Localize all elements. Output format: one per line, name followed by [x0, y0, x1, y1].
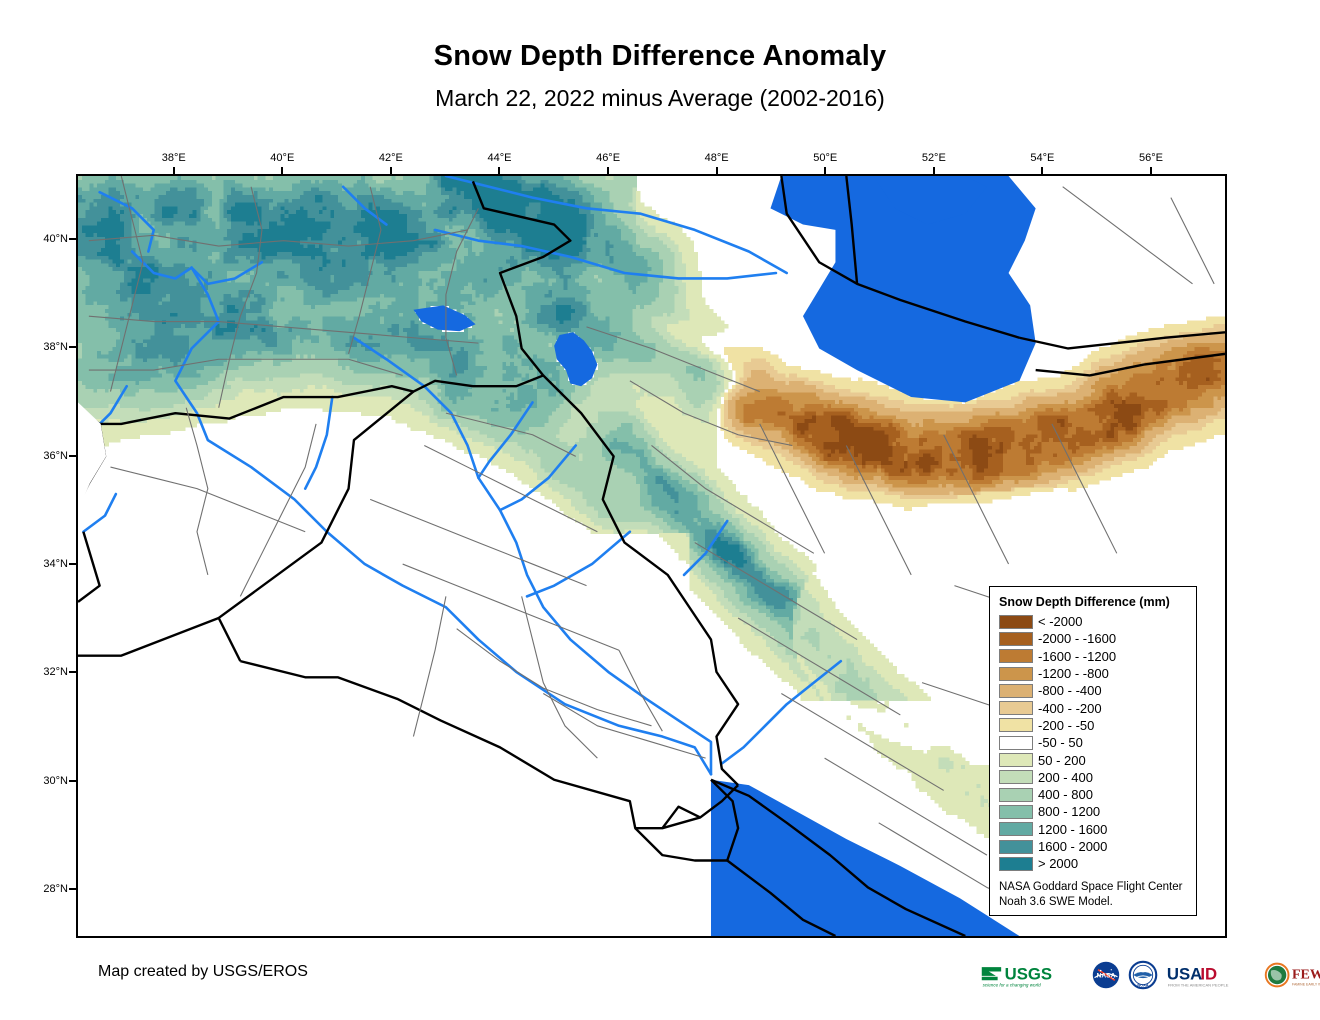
legend-title: Snow Depth Difference (mm) — [999, 595, 1187, 609]
longitude-label: 50°E — [813, 152, 837, 164]
longitude-tick — [281, 167, 283, 174]
longitude-tick — [173, 167, 175, 174]
svg-text:FROM THE AMERICAN PEOPLE: FROM THE AMERICAN PEOPLE — [1168, 982, 1229, 987]
longitude-tick — [390, 167, 392, 174]
legend-source-note: NASA Goddard Space Flight Center Noah 3.… — [999, 880, 1187, 909]
longitude-label: 52°E — [922, 152, 946, 164]
legend-entry: -800 - -400 — [999, 682, 1187, 699]
legend-entry-list: < -2000-2000 - -1600-1600 - -1200-1200 -… — [999, 613, 1187, 872]
title-block: Snow Depth Difference Anomaly March 22, … — [0, 40, 1320, 112]
legend-entry: -400 - -200 — [999, 699, 1187, 716]
longitude-tick — [716, 167, 718, 174]
longitude-tick — [1150, 167, 1152, 174]
legend-entry: -2000 - -1600 — [999, 630, 1187, 647]
latitude-label: 38°N — [24, 341, 68, 353]
longitude-label: 48°E — [705, 152, 729, 164]
legend-entry-label: -800 - -400 — [1038, 684, 1102, 697]
map-legend: Snow Depth Difference (mm) < -2000-2000 … — [989, 586, 1197, 916]
svg-text:science for a changing world: science for a changing world — [983, 982, 1041, 987]
legend-entry-label: -50 - 50 — [1038, 736, 1083, 749]
latitude-tick — [69, 346, 76, 348]
legend-entry: > 2000 — [999, 855, 1187, 872]
legend-color-swatch — [999, 701, 1033, 715]
legend-color-swatch — [999, 649, 1033, 663]
legend-color-swatch — [999, 684, 1033, 698]
latitude-label: 32°N — [24, 666, 68, 678]
svg-text:FEWS NET: FEWS NET — [1292, 968, 1320, 983]
legend-entry: 50 - 200 — [999, 751, 1187, 768]
legend-color-swatch — [999, 822, 1033, 836]
latitude-tick — [69, 455, 76, 457]
legend-entry: -1200 - -800 — [999, 665, 1187, 682]
legend-entry: 1200 - 1600 — [999, 821, 1187, 838]
longitude-tick — [607, 167, 609, 174]
legend-source-line-1: NASA Goddard Space Flight Center — [999, 880, 1187, 894]
legend-entry-label: < -2000 — [1038, 615, 1082, 628]
nasa-logo: NASA — [1091, 960, 1121, 990]
svg-text:USA: USA — [1167, 964, 1202, 983]
legend-color-swatch — [999, 840, 1033, 854]
usgs-logo: USGS science for a changing world — [980, 960, 1084, 990]
legend-color-swatch — [999, 736, 1033, 750]
longitude-tick — [933, 167, 935, 174]
latitude-tick — [69, 780, 76, 782]
logo-strip: USGS science for a changing world NASA N… — [980, 958, 1320, 992]
page-subtitle: March 22, 2022 minus Average (2002-2016) — [0, 85, 1320, 112]
legend-color-swatch — [999, 805, 1033, 819]
legend-color-swatch — [999, 770, 1033, 784]
legend-entry-label: 50 - 200 — [1038, 754, 1086, 767]
legend-entry-label: -2000 - -1600 — [1038, 632, 1116, 645]
legend-source-line-2: Noah 3.6 SWE Model. — [999, 895, 1187, 909]
legend-entry: 400 - 800 — [999, 786, 1187, 803]
legend-entry-label: 400 - 800 — [1038, 788, 1093, 801]
legend-entry-label: -400 - -200 — [1038, 702, 1102, 715]
legend-entry: -50 - 50 — [999, 734, 1187, 751]
longitude-label: 44°E — [487, 152, 511, 164]
latitude-tick — [69, 238, 76, 240]
legend-color-swatch — [999, 788, 1033, 802]
svg-text:NOAA: NOAA — [1137, 983, 1148, 987]
page-title: Snow Depth Difference Anomaly — [0, 40, 1320, 73]
noaa-logo: NOAA — [1128, 960, 1158, 990]
longitude-label: 42°E — [379, 152, 403, 164]
latitude-label: 36°N — [24, 450, 68, 462]
legend-entry-label: > 2000 — [1038, 857, 1078, 870]
fewsnet-logo: FEWS NET FAMINE EARLY WARNING SYSTEMS NE… — [1264, 960, 1320, 990]
legend-entry-label: 800 - 1200 — [1038, 805, 1100, 818]
latitude-label: 30°N — [24, 775, 68, 787]
legend-entry: 200 - 400 — [999, 769, 1187, 786]
legend-entry-label: -200 - -50 — [1038, 719, 1094, 732]
longitude-label: 46°E — [596, 152, 620, 164]
latitude-label: 40°N — [24, 233, 68, 245]
usaid-logo: USA ID FROM THE AMERICAN PEOPLE — [1165, 960, 1257, 990]
svg-text:NASA: NASA — [1097, 973, 1116, 980]
legend-entry-label: -1600 - -1200 — [1038, 650, 1116, 663]
latitude-label: 34°N — [24, 558, 68, 570]
legend-color-swatch — [999, 632, 1033, 646]
legend-color-swatch — [999, 718, 1033, 732]
footer-credit: Map created by USGS/EROS — [98, 963, 308, 981]
legend-entry-label: 200 - 400 — [1038, 771, 1093, 784]
legend-color-swatch — [999, 753, 1033, 767]
longitude-tick — [824, 167, 826, 174]
legend-color-swatch — [999, 857, 1033, 871]
latitude-label: 28°N — [24, 883, 68, 895]
latitude-tick — [69, 671, 76, 673]
longitude-label: 40°E — [270, 152, 294, 164]
svg-text:FAMINE EARLY WARNING SYSTEMS N: FAMINE EARLY WARNING SYSTEMS NETWORK — [1292, 983, 1320, 987]
legend-color-swatch — [999, 615, 1033, 629]
legend-entry: -200 - -50 — [999, 717, 1187, 734]
latitude-tick — [69, 888, 76, 890]
longitude-tick — [498, 167, 500, 174]
legend-color-swatch — [999, 667, 1033, 681]
svg-text:USGS: USGS — [1005, 964, 1052, 983]
longitude-tick — [1041, 167, 1043, 174]
legend-entry: -1600 - -1200 — [999, 648, 1187, 665]
legend-entry-label: 1200 - 1600 — [1038, 823, 1107, 836]
longitude-label: 56°E — [1139, 152, 1163, 164]
longitude-label: 54°E — [1030, 152, 1054, 164]
legend-entry: 800 - 1200 — [999, 803, 1187, 820]
legend-entry-label: 1600 - 2000 — [1038, 840, 1107, 853]
svg-text:ID: ID — [1200, 964, 1217, 983]
longitude-label: 38°E — [162, 152, 186, 164]
legend-entry: 1600 - 2000 — [999, 838, 1187, 855]
legend-entry-label: -1200 - -800 — [1038, 667, 1109, 680]
legend-entry: < -2000 — [999, 613, 1187, 630]
latitude-tick — [69, 563, 76, 565]
